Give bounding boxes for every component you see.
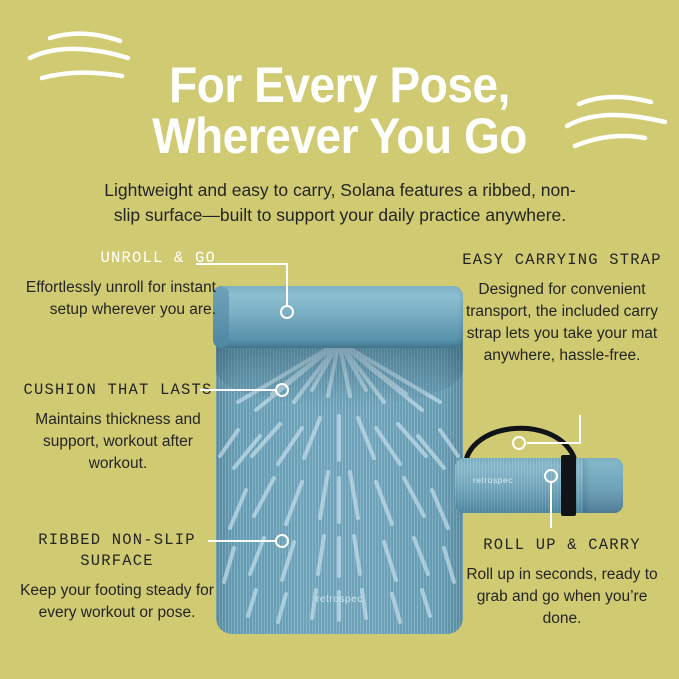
rolled-mat-product-image: retrospec [455,415,630,530]
callout-easy-carrying-strap: EASY CARRYING STRAP Designed for conveni… [462,250,662,367]
brand-logo-rolled-mat: retrospec [473,475,513,485]
callout-body-roll-up-and-carry: Roll up in seconds, ready to grab and go… [462,564,662,630]
callout-roll-up-and-carry: ROLL UP & CARRY Roll up in seconds, read… [462,535,662,630]
headline-line-1: For Every Pose, [27,60,652,111]
callout-body-cushion-that-lasts: Maintains thickness and support, workout… [20,409,216,475]
callout-body-easy-carrying-strap: Designed for convenient transport, the i… [462,279,662,367]
callout-cushion-that-lasts: CUSHION THAT LASTS Maintains thickness a… [20,380,216,475]
callout-unroll-and-go: UNROLL & GO Effortlessly unroll for inst… [20,248,216,321]
flat-mat-product-image: retrospec [216,286,463,634]
headline-line-2: Wherever You Go [27,111,652,162]
callout-title-cushion-that-lasts: CUSHION THAT LASTS [20,380,216,401]
brand-logo-flat-mat: retrospec [216,594,463,605]
callout-title-ribbed-non-slip-surface: RIBBED NON-SLIP SURFACE [18,530,216,572]
infographic-canvas: For Every Pose, Wherever You Go Lightwei… [0,0,679,679]
callout-title-unroll-and-go: UNROLL & GO [20,248,216,269]
strap-band [561,455,576,516]
mat-surface [216,332,463,634]
mat-rolled-top-edge [216,286,463,348]
page-title: For Every Pose, Wherever You Go [27,60,652,162]
callout-body-ribbed-non-slip-surface: Keep your footing steady for every worko… [18,580,216,624]
subtitle-text: Lightweight and easy to carry, Solana fe… [95,178,585,228]
callout-ribbed-non-slip-surface: RIBBED NON-SLIP SURFACE Keep your footin… [18,530,216,624]
callout-title-roll-up-and-carry: ROLL UP & CARRY [462,535,662,556]
callout-body-unroll-and-go: Effortlessly unroll for instant setup wh… [20,277,216,321]
callout-title-easy-carrying-strap: EASY CARRYING STRAP [462,250,662,271]
rolled-mat-end [583,458,623,513]
